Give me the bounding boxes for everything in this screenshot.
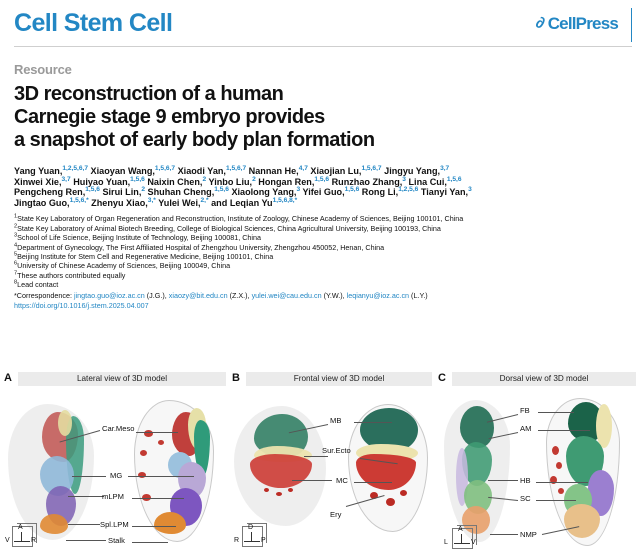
panel-c-label-am: AM xyxy=(520,424,531,433)
panel-a-ery-speck xyxy=(138,472,146,478)
panel-c-leader xyxy=(490,534,518,535)
affiliation-text: University of Chinese Academy of Science… xyxy=(17,261,230,270)
panel-a-label-car-meso: Car.Meso xyxy=(102,424,135,433)
panel-c-axis-up: A xyxy=(458,526,463,533)
cellpress-logo[interactable]: ∂ CellPress xyxy=(536,14,618,34)
panel-a-cloud-stalk xyxy=(40,514,68,534)
panel-c-label-sc: SC xyxy=(520,494,531,503)
panel-b-letter: B xyxy=(232,372,240,384)
panel-a-model-stalk xyxy=(154,512,186,534)
panel-b-title: Frontal view of 3D model xyxy=(246,372,432,386)
panel-a-leader xyxy=(132,498,184,499)
panel-b-model-ery-speck xyxy=(386,498,395,506)
cellpress-mark-icon: ∂ xyxy=(533,15,546,33)
panel-b-axis-left: R xyxy=(234,537,239,544)
axis-line-vertical xyxy=(461,534,462,543)
title-line-2: Carnegie stage 9 embryo provides xyxy=(14,106,325,128)
panel-a-title: Lateral view of 3D model xyxy=(18,372,226,386)
doi-link[interactable]: https://doi.org/10.1016/j.stem.2025.04.0… xyxy=(14,301,626,310)
panel-c-axis-indicator: A L V xyxy=(452,528,482,558)
panel-c-label-nmp: NMP xyxy=(520,530,537,539)
panel-b-ery-speck xyxy=(264,488,269,492)
panel-a-label-stalk: Stalk xyxy=(108,536,125,545)
figure-panel-c: C Dorsal view of 3D model FB AM xyxy=(436,370,638,558)
author-line: Xinwei Xie,3,7 Huiyao Yuan,1,5,6 Naixin … xyxy=(14,177,626,188)
panel-b-axis-indicator: D R P xyxy=(242,526,272,556)
panel-c-leader xyxy=(536,482,588,483)
panel-a-leader xyxy=(132,526,176,527)
panel-a-leader xyxy=(136,432,178,433)
panel-b-leader xyxy=(354,422,392,423)
panel-a-axis-right: R xyxy=(31,537,36,544)
panel-a-ery-speck xyxy=(140,450,147,456)
panel-a-label-mlpm: mLPM xyxy=(102,492,124,501)
panel-c-axis-left: L xyxy=(444,539,448,546)
panel-a-leader xyxy=(128,476,194,477)
affiliation-list: 1State Key Laboratory of Organ Regenerat… xyxy=(14,214,626,289)
panel-a-stage: Car.Meso MG mLPM Spl.LPM Stalk A V xyxy=(2,388,228,558)
axis-line-vertical xyxy=(21,532,22,541)
panel-b-label-mc: MC xyxy=(336,476,348,485)
panel-a-leader xyxy=(132,542,168,543)
panel-a-letter: A xyxy=(4,372,12,384)
panel-c-label-hb: HB xyxy=(520,476,531,485)
affiliation-item: 6University of Chinese Academy of Scienc… xyxy=(14,261,626,270)
affiliation-text: Department of Gynecology, The First Affi… xyxy=(17,243,384,252)
correspondence-initials: (Z.X.), xyxy=(228,291,252,300)
panel-a-leader xyxy=(68,496,104,497)
correspondence-email[interactable]: xiaozy@bit.edu.cn xyxy=(169,291,228,300)
panel-c-letter: C xyxy=(438,372,446,384)
panel-a-leader xyxy=(72,476,106,477)
panel-b-model-ery-speck xyxy=(400,490,407,496)
affiliation-item: 2State Key Laboratory of Animal Biotech … xyxy=(14,224,626,233)
article-type-kicker: Resource xyxy=(14,62,626,77)
panel-b-leader xyxy=(354,482,392,483)
panel-b-ery-speck xyxy=(288,488,293,492)
author-list: Yang Yuan,1,2,5,6,7 Xiaoyan Wang,1,5,6,7… xyxy=(14,166,626,208)
panel-b-ery-speck xyxy=(276,492,282,496)
cellpress-wordmark: CellPress xyxy=(548,14,618,34)
correspondence-initials: (J.G.), xyxy=(145,291,169,300)
panel-b-leader xyxy=(304,456,328,457)
axis-line-diagonal xyxy=(14,541,22,542)
correspondence-initials: (L.Y.) xyxy=(409,291,428,300)
title-line-1: 3D reconstruction of a human xyxy=(14,83,283,105)
page-title: 3D reconstruction of a human Carnegie st… xyxy=(14,83,626,152)
panel-b-leader xyxy=(292,480,332,481)
correspondence-email[interactable]: yulei.wei@cau.edu.cn xyxy=(252,291,322,300)
affiliation-item: 5Beijing Institute for Stem Cell and Reg… xyxy=(14,252,626,261)
axis-line-diagonal xyxy=(461,543,470,544)
panel-a-axis-up: A xyxy=(18,524,23,531)
affiliation-item: 3School of Life Science, Beijing Institu… xyxy=(14,233,626,242)
author-line: Pengcheng Ren,1,5,6 Sirui Lin,2 Shuhan C… xyxy=(14,187,626,198)
panel-a-axis-indicator: A V R xyxy=(12,526,42,556)
masthead-vertical-rule xyxy=(631,8,632,42)
title-line-3: a snapshot of early body plan formation xyxy=(14,129,375,151)
masthead-divider xyxy=(14,46,632,47)
affiliation-text: Lead contact xyxy=(17,280,58,289)
affiliation-item: 4Department of Gynecology, The First Aff… xyxy=(14,243,626,252)
axis-line-horizontal xyxy=(21,541,30,542)
panel-a-cloud-surecto xyxy=(58,410,72,436)
panel-a-leader xyxy=(66,540,106,541)
panel-c-stage: FB AM HB SC NMP A L V xyxy=(436,388,638,558)
affiliation-text: State Key Laboratory of Animal Biotech B… xyxy=(17,224,441,233)
axis-line-diagonal xyxy=(251,541,260,542)
panel-b-axis-up: D xyxy=(248,524,253,531)
panel-a-leader xyxy=(68,524,100,525)
figure-panel-b: B Frontal view of 3D model MB Sur.Ecto xyxy=(230,370,434,558)
correspondence-email[interactable]: leqianyu@ioz.ac.cn xyxy=(347,291,409,300)
affiliation-text: School of Life Science, Beijing Institut… xyxy=(17,233,261,242)
panel-c-ery-speck xyxy=(556,462,562,469)
panel-c-title: Dorsal view of 3D model xyxy=(452,372,636,386)
panel-b-label-ery: Ery xyxy=(330,510,341,519)
article-header: Resource 3D reconstruction of a human Ca… xyxy=(0,46,640,310)
correspondence-email[interactable]: jingtao.guo@ioz.ac.cn xyxy=(74,291,145,300)
panel-c-ery-speck xyxy=(558,488,564,494)
panel-c-ery-speck xyxy=(552,446,559,455)
panel-c-leader xyxy=(536,500,576,501)
panel-b-stage: MB Sur.Ecto MC Ery D R P xyxy=(230,388,434,558)
affiliation-text: State Key Laboratory of Organ Regenerati… xyxy=(17,214,463,223)
correspondence-initials: (Y.W.), xyxy=(322,291,347,300)
figure-3d-models: A Lateral view of 3D model xyxy=(0,370,640,558)
panel-a-axis-left: V xyxy=(5,537,10,544)
author-line: Jingtao Guo,1,5,6,* Zhenyu Xiao,3,* Yule… xyxy=(14,198,626,209)
affiliation-text: Beijing Institute for Stem Cell and Rege… xyxy=(17,252,273,261)
panel-c-leader xyxy=(538,412,574,413)
panel-c-label-fb: FB xyxy=(520,406,530,415)
figure-panel-a: A Lateral view of 3D model xyxy=(2,370,228,558)
panel-b-axis-right: P xyxy=(261,537,266,544)
panel-a-label-mg: MG xyxy=(110,471,122,480)
axis-line-vertical xyxy=(251,532,252,541)
affiliation-item: 8Lead contact xyxy=(14,280,626,289)
panel-c-leader xyxy=(538,430,590,431)
panel-a-ery-speck xyxy=(158,440,164,445)
correspondence-label: *Correspondence: xyxy=(14,291,74,300)
affiliation-text: These authors contributed equally xyxy=(17,271,125,280)
affiliation-item: 1State Key Laboratory of Organ Regenerat… xyxy=(14,214,626,223)
panel-a-label-spl-lpm: Spl.LPM xyxy=(100,520,129,529)
panel-b-label-sur-ecto: Sur.Ecto xyxy=(322,446,351,455)
panel-c-leader xyxy=(488,480,518,481)
panel-b-label-mb: MB xyxy=(330,416,341,425)
panel-c-axis-right: V xyxy=(471,539,476,546)
masthead: Cell Stem Cell ∂ CellPress xyxy=(0,0,640,46)
correspondence-line: *Correspondence: jingtao.guo@ioz.ac.cn (… xyxy=(14,291,626,300)
affiliation-item: 7These authors contributed equally xyxy=(14,271,626,280)
journal-title: Cell Stem Cell xyxy=(14,8,172,38)
